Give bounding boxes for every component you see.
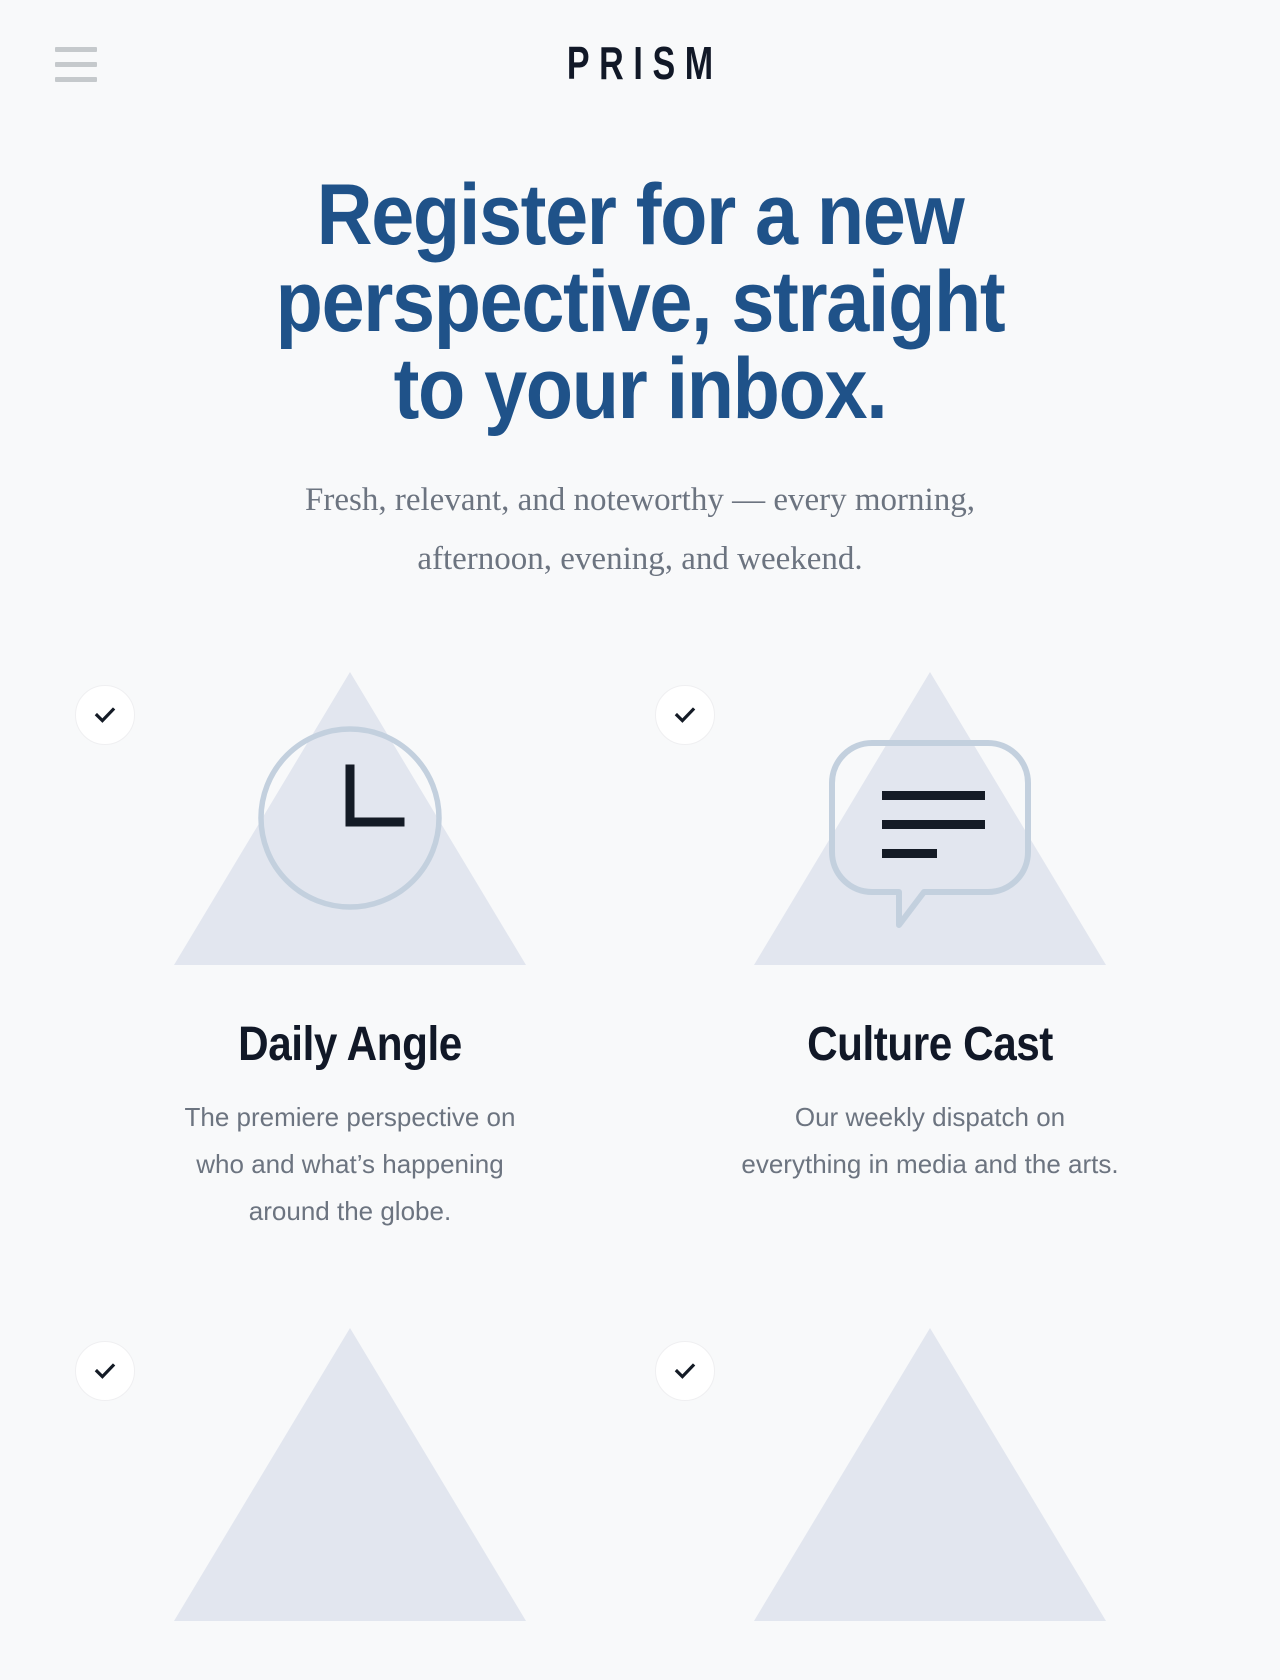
newsletter-card-culture-cast[interactable]: Culture Cast Our weekly dispatch on ever… [640,672,1220,1235]
hero-section: Register for a new perspective, straight… [0,128,1280,589]
site-header: PRISM [0,0,1280,128]
triangle-decoration [754,1328,1106,1621]
newsletter-card-grid: Daily Angle The premiere perspective on … [0,672,1280,1675]
page-title: Register for a new perspective, straight… [267,172,1014,433]
brand-logo[interactable]: PRISM [166,32,1113,94]
newsletter-card-daily-angle[interactable]: Daily Angle The premiere perspective on … [60,672,640,1235]
newsletter-card-four[interactable] [640,1328,1220,1675]
card-description: The premiere perspective on who and what… [160,1094,540,1235]
card-title: Daily Angle [95,1019,605,1071]
check-icon[interactable] [75,1341,135,1401]
check-icon[interactable] [655,685,715,745]
card-artwork [640,1328,1220,1621]
hamburger-icon-bar [55,77,97,82]
clock-icon [257,725,443,916]
hamburger-icon-bar [55,62,97,67]
card-artwork [60,1328,640,1621]
newsletter-card-three[interactable] [60,1328,640,1675]
triangle-decoration [174,1328,526,1621]
card-artwork [640,672,1220,965]
page-subtitle: Fresh, relevant, and noteworthy — every … [290,471,990,589]
hamburger-menu-button[interactable] [55,44,103,84]
hamburger-icon-bar [55,47,97,52]
card-artwork [60,672,640,965]
speech-bubble-icon [827,738,1033,939]
check-icon[interactable] [655,1341,715,1401]
check-icon[interactable] [75,685,135,745]
card-description: Our weekly dispatch on everything in med… [740,1094,1120,1188]
card-title: Culture Cast [675,1019,1185,1071]
